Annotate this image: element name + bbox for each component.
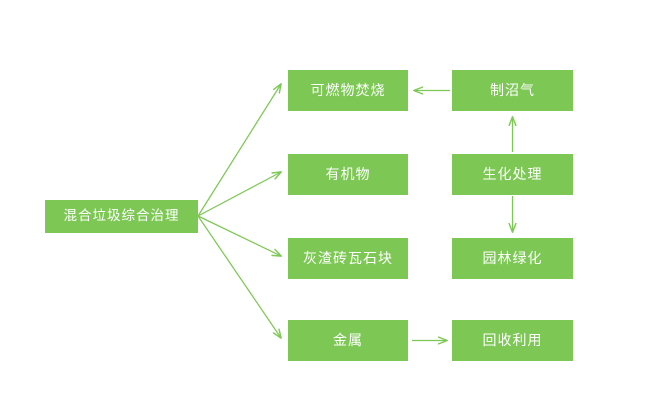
diagram-canvas: 混合垃圾综合治理 可燃物焚烧 有机物 灰渣砖瓦石块 金属 制沼气 生化处理 园林… [0, 0, 648, 416]
node-landscaping[interactable]: 园林绿化 [452, 238, 573, 279]
edge-source-to-metal [198, 216, 281, 338]
node-biogas-production[interactable]: 制沼气 [452, 70, 573, 111]
edge-source-to-ash [198, 216, 281, 256]
node-ash-brick-tile-stone[interactable]: 灰渣砖瓦石块 [288, 238, 408, 279]
node-biochemical-treatment[interactable]: 生化处理 [452, 154, 573, 195]
node-source-mixed-waste[interactable]: 混合垃圾综合治理 [45, 200, 198, 233]
node-organic-matter[interactable]: 有机物 [288, 154, 408, 195]
node-combustible-incineration[interactable]: 可燃物焚烧 [288, 70, 408, 111]
node-recycling-reuse[interactable]: 回收利用 [452, 320, 573, 361]
edge-source-to-organic [198, 172, 281, 216]
node-metal[interactable]: 金属 [288, 320, 408, 361]
edge-source-to-combustible [198, 84, 281, 216]
